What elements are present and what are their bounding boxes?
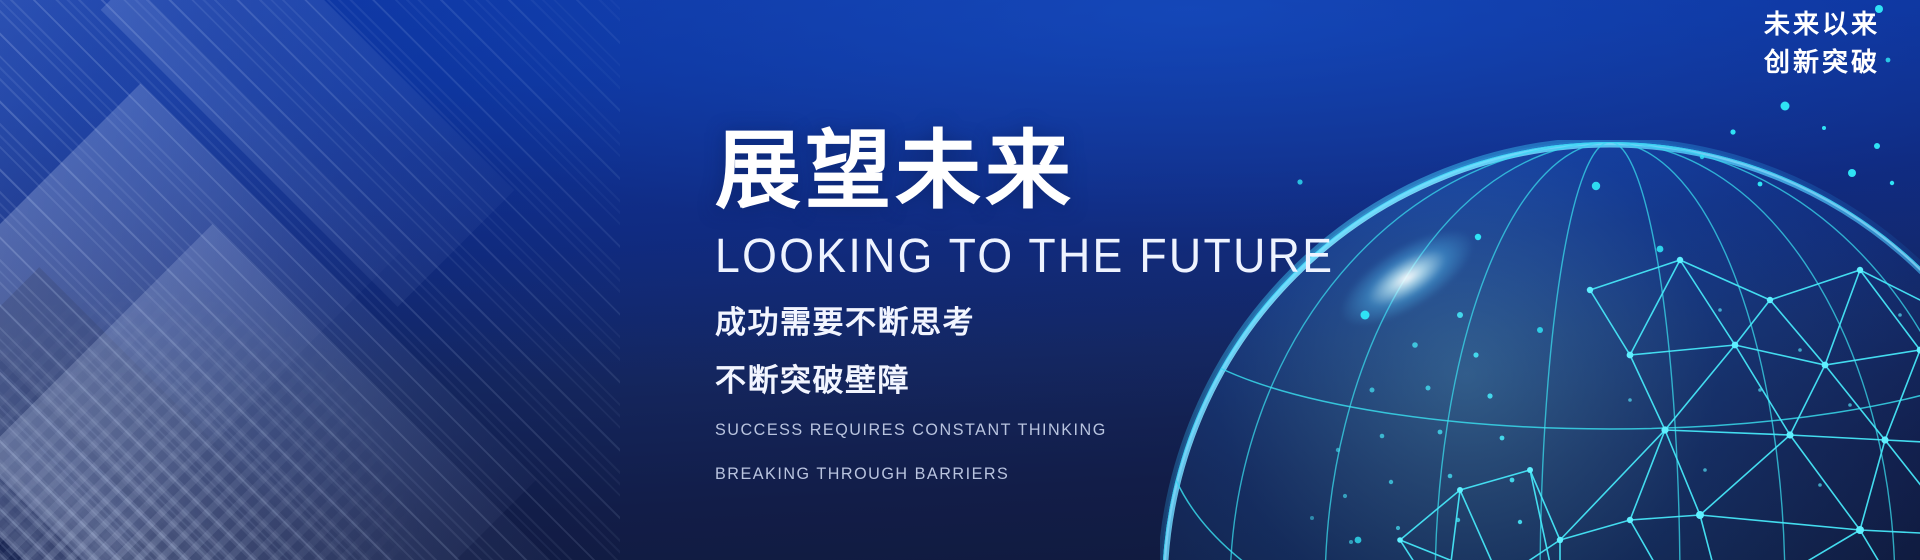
corner-slogan: 未来以来 创新突破	[1764, 6, 1880, 81]
tagline-cn-line-2: 不断突破壁障	[715, 360, 1415, 402]
headline-block: 展望未来 LOOKING TO THE FUTURE 成功需要不断思考 不断突破…	[715, 126, 1415, 489]
left-decoration	[0, 0, 620, 560]
decor-panel-b	[0, 84, 536, 560]
decor-panel-d	[101, 0, 515, 307]
corner-slogan-line-2: 创新突破	[1764, 44, 1880, 82]
corner-slogan-line-1: 未来以来	[1764, 6, 1880, 44]
page-subtitle-en: LOOKING TO THE FUTURE	[715, 229, 1366, 286]
tagline-en-line-2: BREAKING THROUGH BARRIERS	[715, 458, 1380, 489]
promo-banner: 展望未来 LOOKING TO THE FUTURE 成功需要不断思考 不断突破…	[0, 0, 1920, 560]
diagonal-hairlines	[0, 0, 620, 560]
tagline-cn-line-1: 成功需要不断思考	[715, 302, 1415, 344]
decor-panel-c	[0, 224, 620, 560]
decor-panel-a	[0, 0, 401, 506]
dot-matrix-pattern	[0, 122, 508, 560]
dot-matrix-pattern-secondary	[0, 313, 347, 560]
page-title: 展望未来	[715, 126, 1415, 217]
tagline-en-line-1: SUCCESS REQUIRES CONSTANT THINKING	[715, 414, 1380, 445]
decor-panel-dark	[0, 267, 393, 560]
diagonal-hairlines-secondary	[0, 0, 620, 560]
decor-panel-e	[0, 223, 152, 560]
